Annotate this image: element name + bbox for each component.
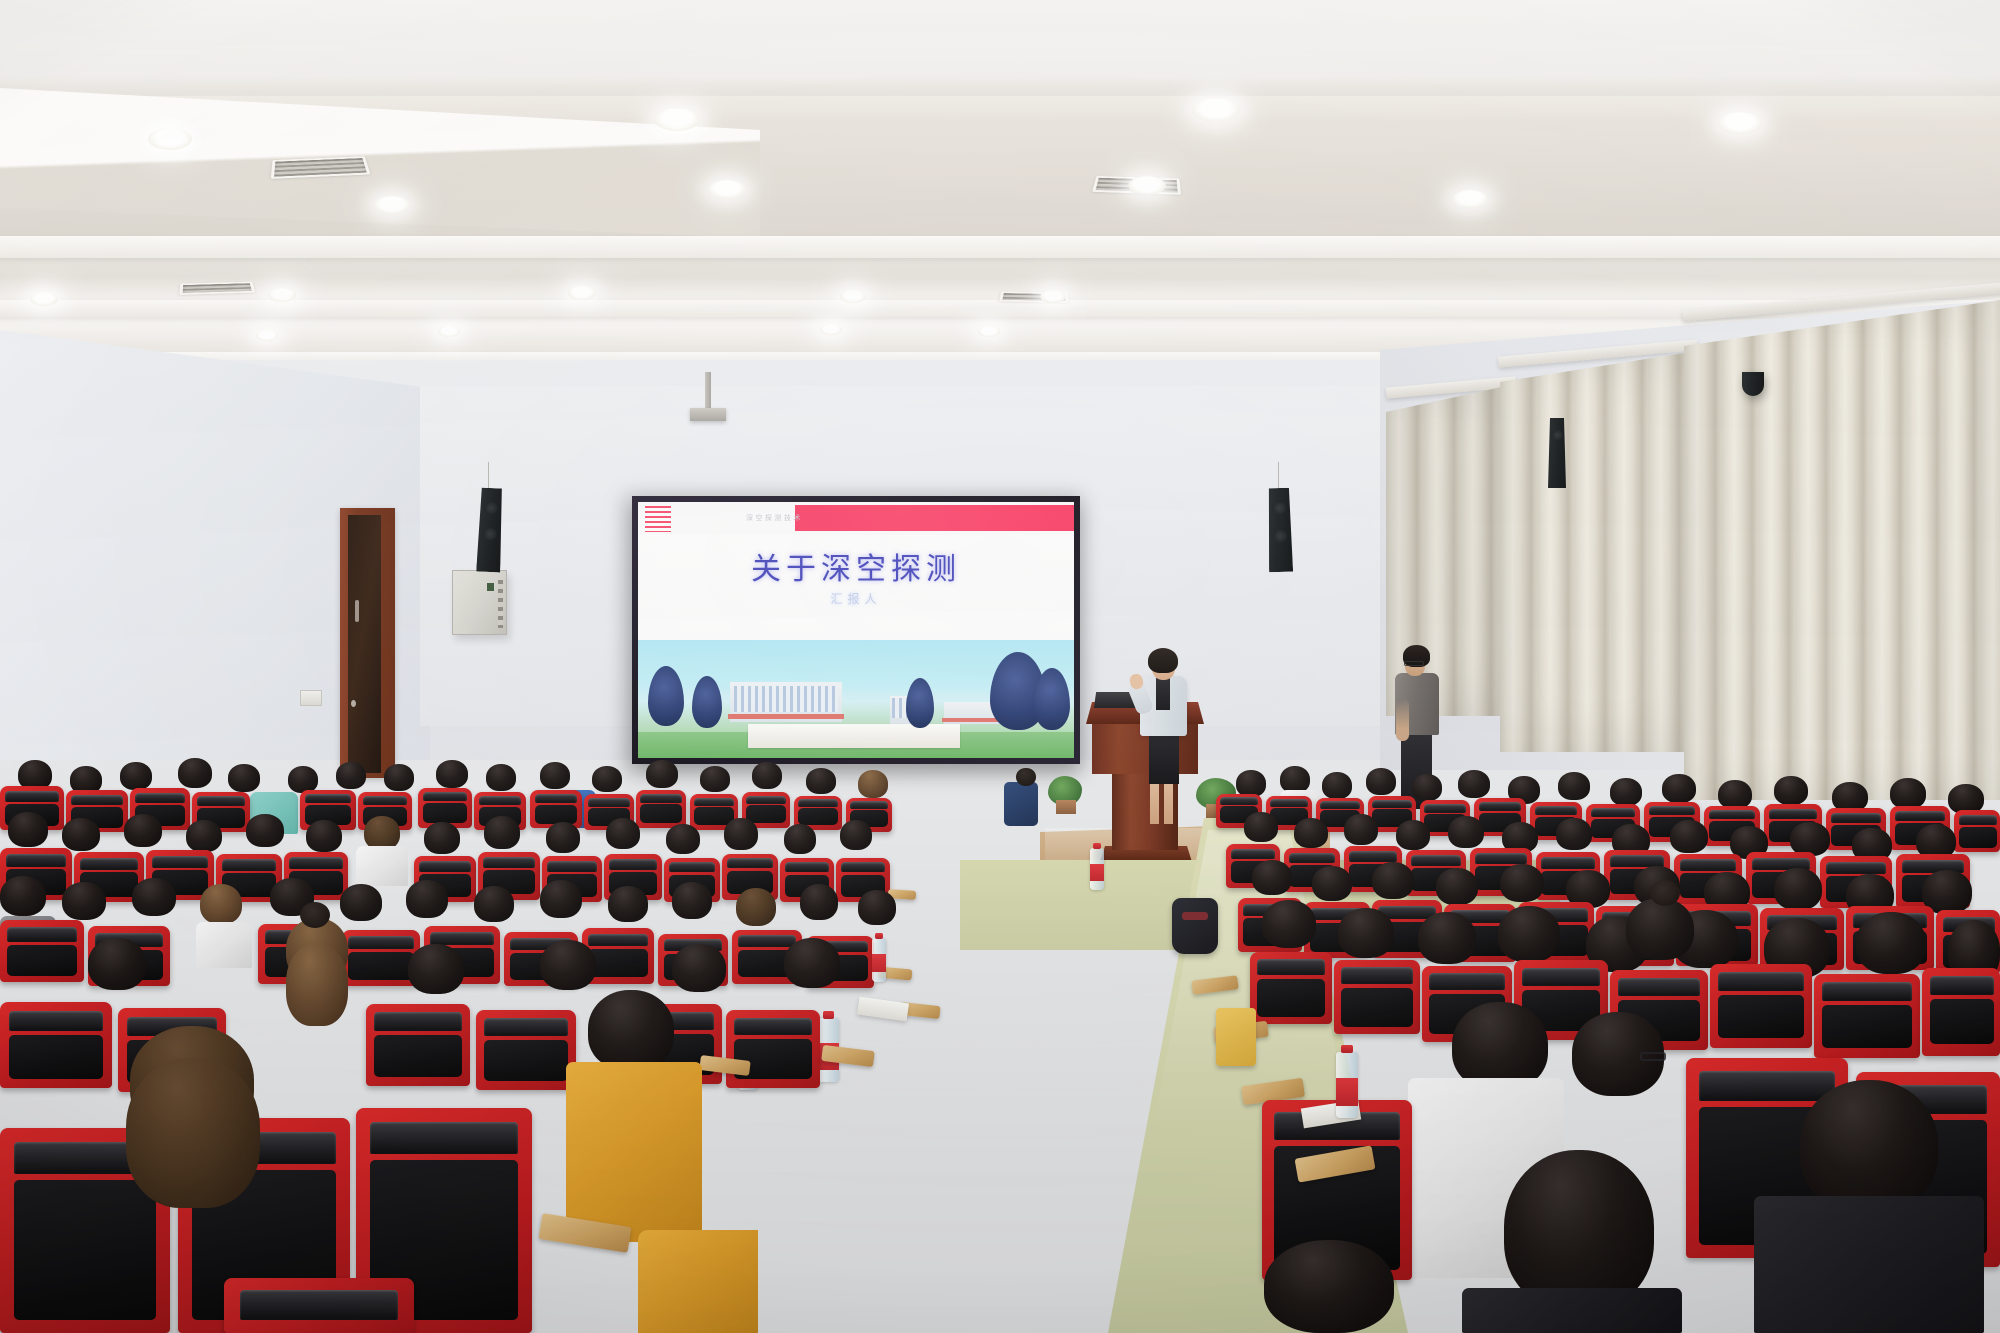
photo-building-roofline — [728, 714, 844, 719]
audience-head — [1452, 1002, 1548, 1090]
ceiling-downlight-icon — [30, 292, 58, 306]
audience-head — [592, 766, 622, 792]
photo-tree — [692, 676, 722, 728]
slide-title: 关于深空探测 — [638, 544, 1074, 588]
window-curtain[interactable] — [1500, 352, 1690, 752]
audience-head — [1504, 1150, 1654, 1310]
audience-head — [384, 764, 414, 791]
speaker-hanging-wire — [1278, 462, 1279, 488]
audience-head — [1774, 868, 1822, 910]
audience-head — [1294, 818, 1328, 848]
audience-head — [608, 886, 648, 922]
presenter — [1134, 648, 1196, 828]
audience-head — [1236, 770, 1266, 797]
ceiling-downlight-icon — [1128, 176, 1166, 195]
projection-screen[interactable]: 深空探测技术 关于深空探测 汇报人 — [632, 496, 1080, 764]
wall-speaker-icon — [1548, 418, 1566, 488]
eyeglasses-icon — [1404, 661, 1424, 666]
audience-head — [120, 762, 152, 790]
audience-head — [1338, 908, 1394, 958]
audience-head — [1556, 818, 1592, 850]
ceiling-downlight-icon — [978, 326, 1000, 337]
audience-head — [806, 768, 836, 794]
audience-head — [364, 816, 400, 850]
presenter-hair — [1148, 648, 1178, 673]
presenter-inner-top — [1156, 678, 1170, 710]
audience-head — [1790, 822, 1830, 856]
audience-head — [1498, 906, 1560, 962]
audience-head — [1626, 898, 1694, 960]
audience-torso-yellow-shirt — [638, 1230, 758, 1333]
audience-head — [1856, 912, 1926, 974]
photo-tree — [1034, 668, 1070, 730]
presenter-skirt — [1149, 732, 1179, 784]
door-lock-icon — [351, 700, 356, 707]
ceiling-downlight-icon — [708, 180, 746, 199]
speaker-hanging-wire — [488, 462, 489, 488]
audience-head — [1418, 912, 1476, 964]
audience-hair — [126, 1058, 260, 1208]
audience-head — [1662, 774, 1696, 803]
audience-head — [840, 820, 872, 850]
audience-head — [336, 762, 366, 789]
slide-subtitle: 汇报人 — [638, 590, 1074, 607]
audience-head — [408, 944, 464, 994]
water-bottle[interactable] — [1336, 1052, 1358, 1118]
audience-head — [1312, 866, 1352, 901]
audience-head — [424, 822, 460, 854]
panel-vent-strip — [498, 580, 503, 628]
audience-head — [1800, 1080, 1938, 1212]
audience-head — [406, 880, 448, 918]
audience-head — [0, 876, 46, 916]
audience-head — [1366, 768, 1396, 795]
audience-head — [724, 818, 758, 850]
audience-head — [588, 990, 674, 1070]
audience-head — [228, 764, 260, 792]
audience-head — [124, 814, 162, 847]
audience-torso — [1462, 1288, 1682, 1333]
water-bottle[interactable] — [872, 938, 886, 982]
auditorium-seat[interactable] — [1922, 968, 2000, 1056]
auditorium-seat[interactable] — [1954, 810, 2000, 852]
plant-pot — [1056, 800, 1076, 814]
audience-head — [540, 762, 570, 789]
ceiling-downlight-icon — [1452, 190, 1488, 208]
audience-hair — [286, 944, 348, 1026]
auditorium-seat[interactable] — [366, 1004, 470, 1086]
audience-head — [672, 882, 712, 919]
audience-head — [606, 818, 640, 849]
auditorium-seat[interactable] — [224, 1278, 414, 1333]
ceiling-trim-1 — [0, 236, 2000, 258]
wall-switch-plate[interactable] — [300, 690, 322, 706]
backpack-strap — [1182, 912, 1208, 920]
audience-torso-yellow-shirt — [566, 1062, 702, 1242]
window-curtain[interactable] — [1684, 300, 2000, 800]
audience-head — [1890, 778, 1926, 809]
auditorium-seat[interactable] — [0, 920, 84, 982]
audience-head — [800, 884, 838, 920]
audience-head — [546, 822, 580, 853]
slide-header-text: 深空探测技术 — [746, 513, 803, 523]
audience-head — [1500, 864, 1544, 902]
audience-head — [200, 884, 242, 924]
audience-head — [1262, 900, 1316, 948]
attendant-arm — [1396, 699, 1409, 741]
ceiling-downlight-icon — [840, 290, 866, 303]
auditorium-seat[interactable] — [1814, 974, 1920, 1058]
lecture-hall-photo: 深空探测技术 关于深空探测 汇报人 — [0, 0, 2000, 1333]
audience-hair-bun — [1650, 880, 1680, 906]
audience-head — [484, 816, 520, 849]
audience-head — [1372, 862, 1414, 899]
audience-torso — [1754, 1196, 1984, 1333]
ac-vent-icon — [179, 282, 255, 295]
audience-head — [1280, 766, 1310, 793]
audience-head — [246, 814, 284, 847]
audience-head — [1448, 816, 1484, 848]
audience-head — [88, 938, 146, 990]
audience-head — [62, 818, 100, 851]
backpack[interactable] — [1172, 898, 1218, 954]
photo-building-windows — [734, 686, 838, 712]
ceiling-downlight-icon — [438, 326, 460, 337]
photo-tree — [648, 666, 684, 726]
audience-head — [1610, 778, 1642, 806]
audience-head — [1774, 776, 1808, 805]
photo-tree — [906, 678, 934, 728]
door-handle-icon[interactable] — [355, 600, 359, 622]
audience-head — [1344, 814, 1378, 845]
ceiling-downlight-icon — [268, 288, 296, 302]
auditorium-seat[interactable] — [1334, 960, 1420, 1034]
slide-photograph — [638, 640, 1074, 758]
ceiling-downlight-icon — [568, 286, 596, 300]
audience-head — [474, 886, 514, 922]
audience-head — [858, 890, 896, 925]
panel-indicator-light-icon — [487, 583, 494, 591]
audience-head — [1252, 860, 1292, 895]
projector-mount-pole — [705, 372, 711, 410]
audience-head — [178, 758, 212, 788]
ceiling-downlight-icon — [148, 128, 192, 150]
front-row-attendee — [1004, 782, 1038, 826]
notebook[interactable] — [857, 997, 909, 1022]
ceiling-downlight-icon — [654, 108, 700, 131]
audience-head — [858, 770, 888, 798]
slide-accent-band — [795, 505, 1074, 531]
audience-head — [1436, 868, 1478, 905]
audience-head — [62, 882, 106, 920]
audience-hair-bun — [300, 902, 330, 928]
audience-head — [540, 940, 596, 990]
audience-head — [1670, 820, 1708, 853]
ceiling-downlight-icon — [374, 196, 410, 214]
audience-head — [1412, 774, 1442, 801]
ceiling-projector-icon — [690, 408, 726, 421]
audience-head — [736, 888, 776, 926]
audience-head — [8, 812, 48, 847]
audience-head — [1322, 772, 1352, 799]
audience-head — [486, 764, 516, 791]
ceiling-downlight-icon — [256, 330, 278, 341]
auditorium-seat[interactable] — [726, 1010, 820, 1088]
audience-head — [1264, 1240, 1394, 1333]
auditorium-seat[interactable] — [0, 1002, 112, 1088]
audience-head — [784, 824, 816, 854]
surveillance-camera-icon — [1742, 372, 1764, 396]
audience-head — [666, 824, 700, 854]
ceiling-downlight-icon — [1040, 290, 1066, 303]
audience-torso — [356, 846, 408, 886]
auditorium-seat[interactable] — [636, 790, 686, 828]
ceiling-downlight-icon — [1192, 98, 1240, 122]
tote-bag[interactable] — [1216, 1008, 1256, 1066]
audience-head — [436, 760, 468, 788]
ceiling-downlight-icon — [1718, 112, 1762, 134]
front-row-attendee-head — [1016, 768, 1036, 786]
water-bottle[interactable] — [1090, 848, 1104, 890]
eyeglasses-icon — [1640, 1052, 1666, 1061]
audience-head — [1458, 770, 1490, 798]
audience-head — [672, 944, 726, 992]
auditorium-seat[interactable] — [1710, 964, 1812, 1048]
audience-head — [700, 766, 730, 792]
audience-head — [288, 766, 318, 793]
audience-head — [340, 884, 382, 921]
audience-head — [132, 878, 176, 916]
audience-head — [306, 820, 342, 852]
audience-head — [1718, 780, 1752, 809]
audience-head — [540, 880, 582, 918]
slide-stripe-motif — [645, 506, 671, 532]
ceiling-downlight-icon — [820, 324, 842, 335]
audience-head — [186, 820, 222, 852]
audience-head — [646, 760, 678, 788]
wall-speaker-icon — [1267, 488, 1293, 573]
audience-head — [784, 938, 840, 988]
auditorium-seat[interactable] — [476, 1010, 576, 1090]
audience-torso — [196, 922, 252, 968]
side-exit-doorway[interactable] — [348, 515, 381, 773]
auditorium-seat[interactable] — [1250, 952, 1332, 1024]
audience-head — [1244, 812, 1278, 842]
photo-monument-wall — [748, 724, 960, 748]
presentation-slide: 深空探测技术 关于深空探测 汇报人 — [638, 502, 1074, 758]
audience-head — [752, 762, 782, 789]
audience-head — [1558, 772, 1590, 800]
